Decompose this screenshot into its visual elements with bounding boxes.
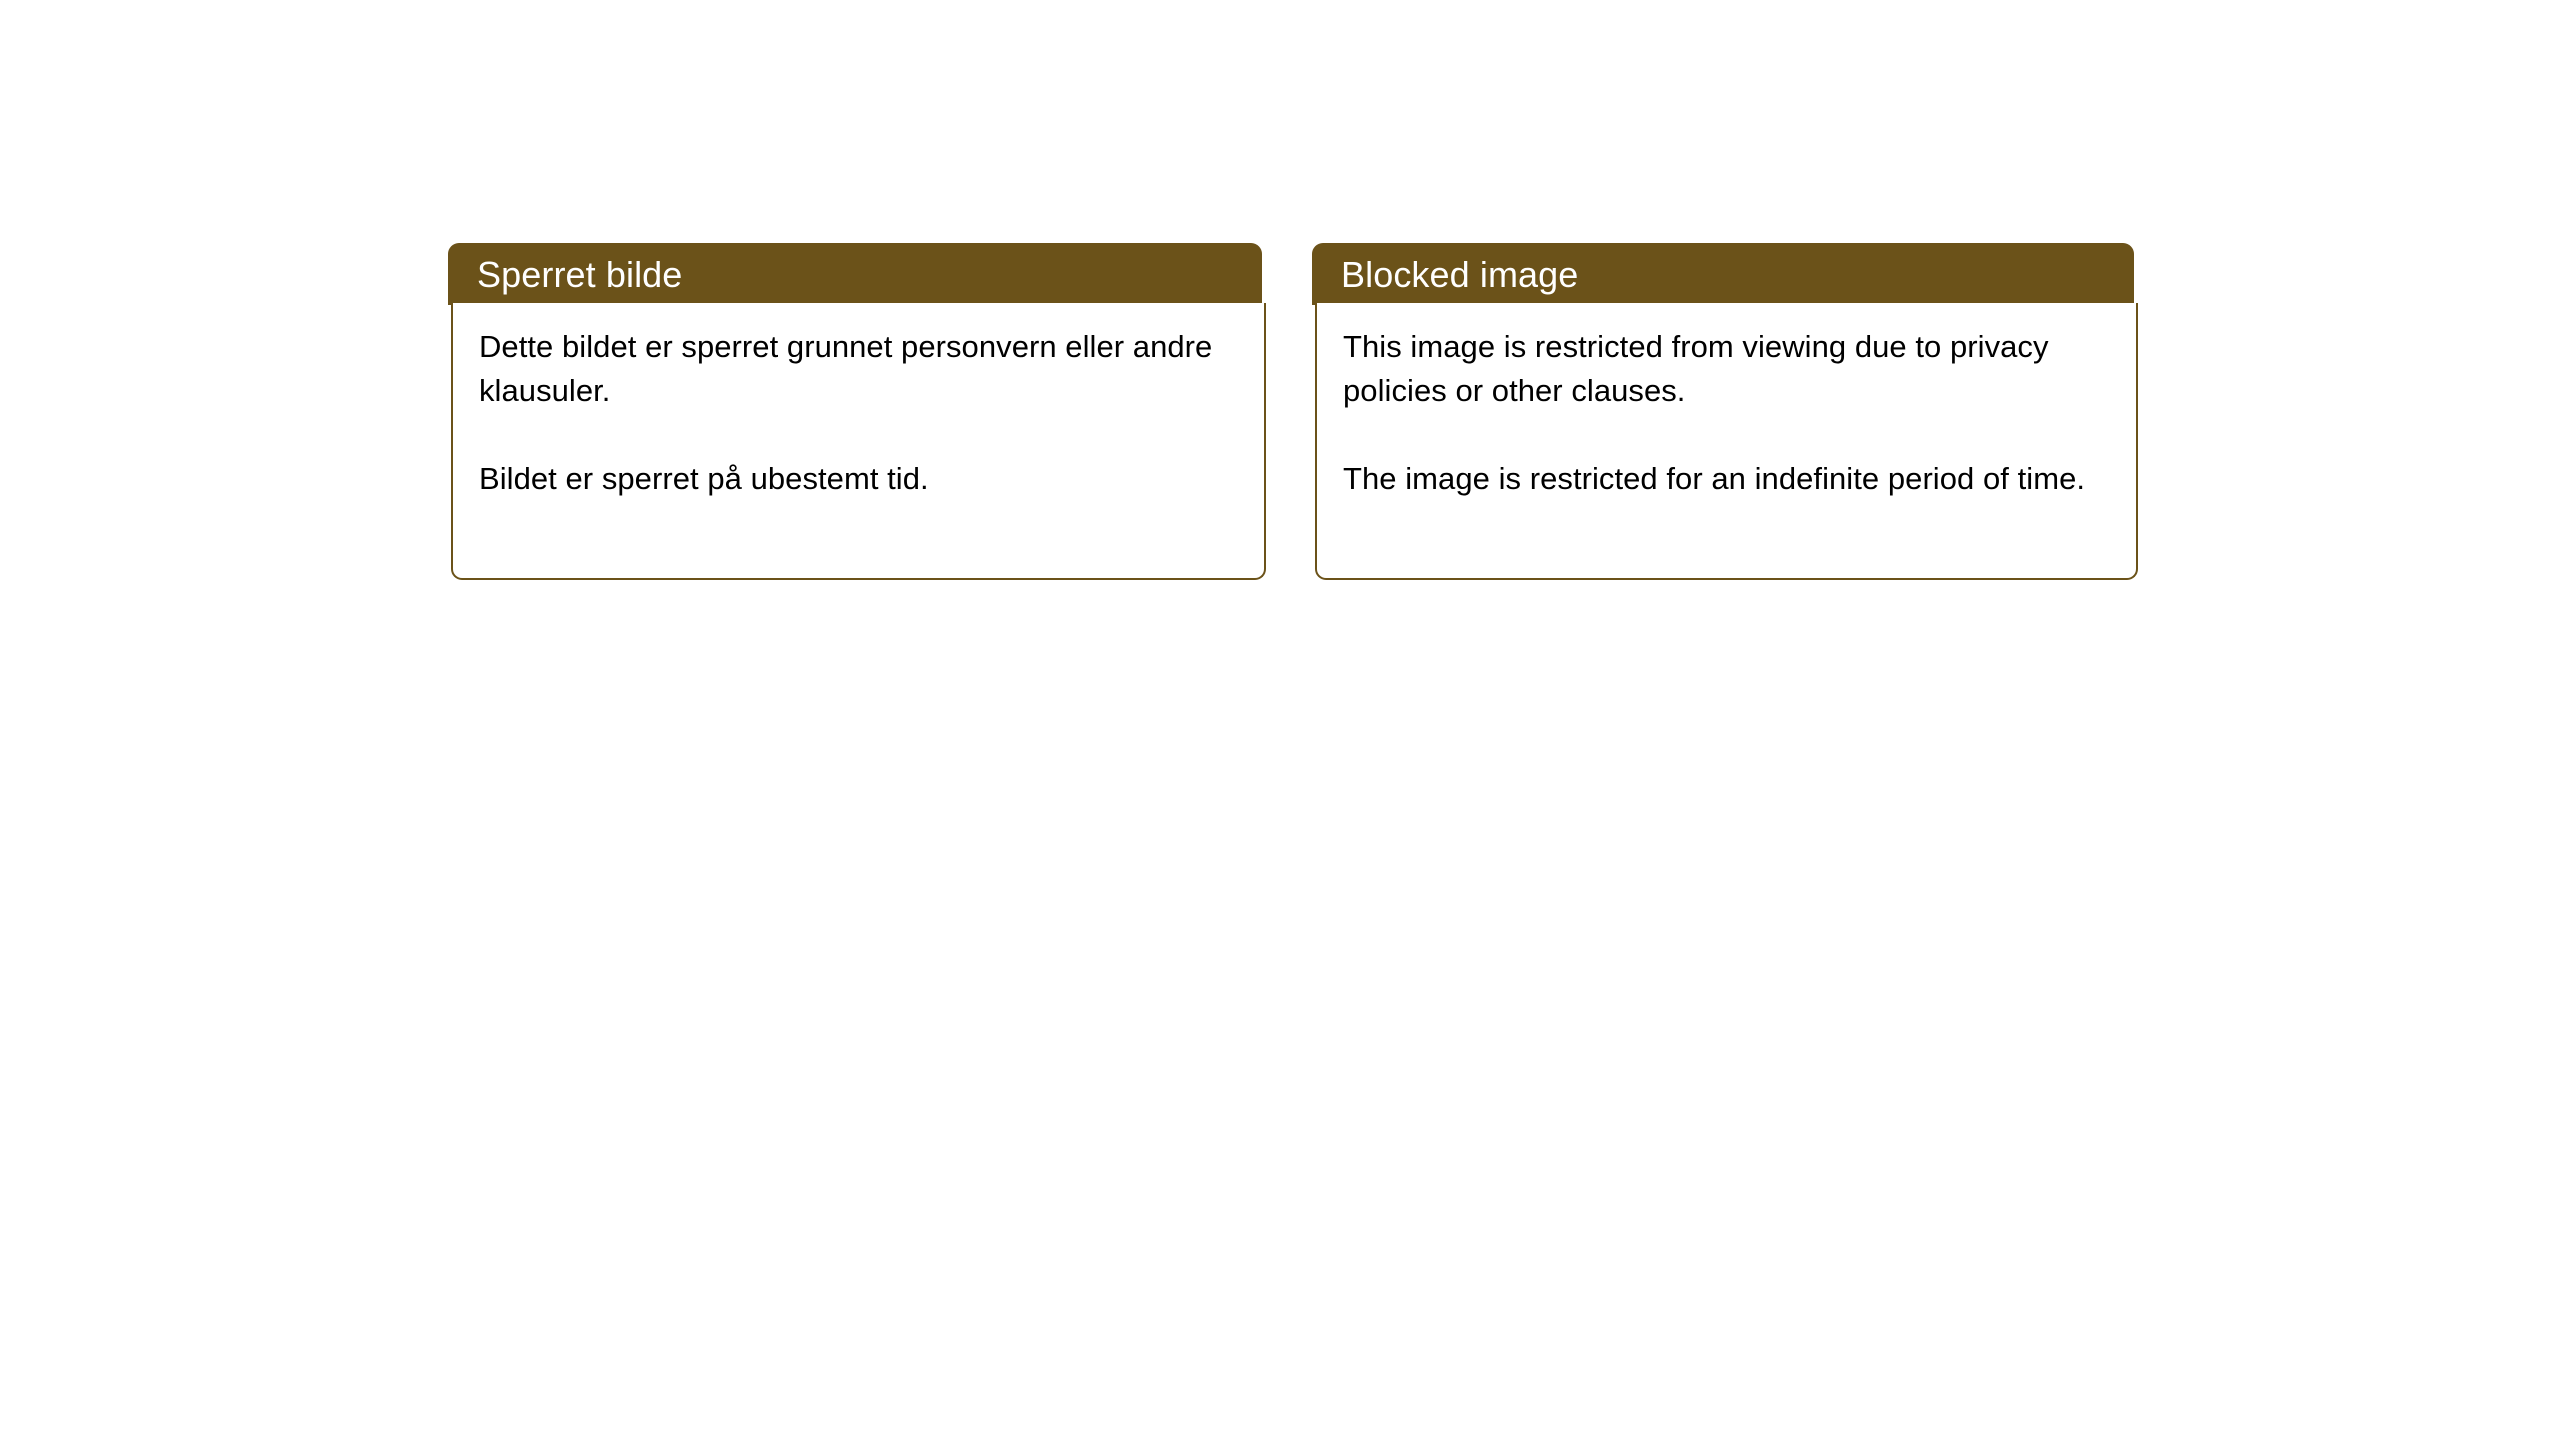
notice-paragraph-norwegian-1: Dette bildet er sperret grunnet personve… (479, 325, 1240, 413)
notice-title-english: Blocked image (1341, 253, 1578, 297)
blocked-image-notice-english: Blocked image This image is restricted f… (1312, 243, 2138, 580)
notice-body-english: This image is restricted from viewing du… (1315, 303, 2138, 580)
notice-paragraph-english-1: This image is restricted from viewing du… (1343, 325, 2112, 413)
notice-header-english: Blocked image (1312, 243, 2134, 305)
notice-paragraph-english-2: The image is restricted for an indefinit… (1343, 457, 2112, 501)
notice-header-norwegian: Sperret bilde (448, 243, 1262, 305)
blocked-image-notice-norwegian: Sperret bilde Dette bildet er sperret gr… (448, 243, 1266, 580)
notice-title-norwegian: Sperret bilde (477, 253, 682, 297)
notice-paragraph-norwegian-2: Bildet er sperret på ubestemt tid. (479, 457, 1240, 501)
notice-body-norwegian: Dette bildet er sperret grunnet personve… (451, 303, 1266, 580)
page-canvas: Sperret bilde Dette bildet er sperret gr… (0, 0, 2560, 1440)
